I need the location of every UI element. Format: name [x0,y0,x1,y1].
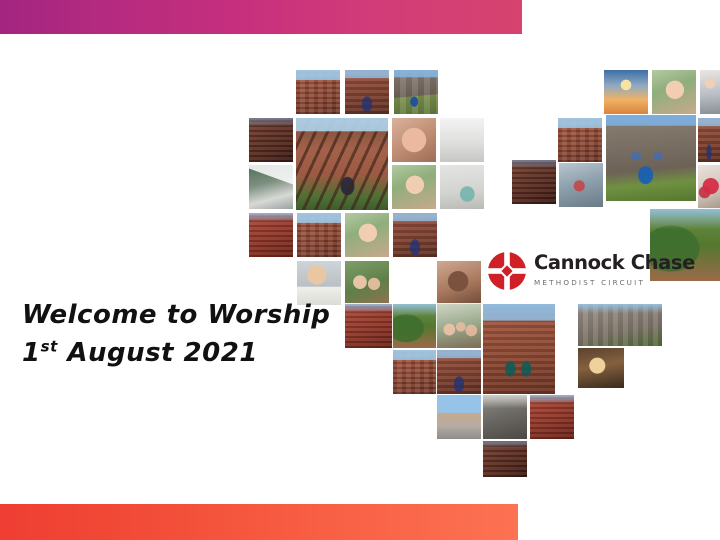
tile-hands-clasped [392,118,436,162]
tile-child-playing [345,213,389,257]
tile-twin-churches [578,304,662,346]
top-accent-bar [0,0,522,34]
tile-sunset-walker [604,70,648,114]
tile-woman-with-bike [700,70,720,114]
title-line-welcome: Welcome to Worship [22,296,352,334]
tile-mono-chapel [483,395,527,439]
tile-chapel-in-trees [393,304,437,348]
tile-church-interior [578,348,624,388]
methodist-cross-icon [487,251,527,291]
tile-red-chapel [530,395,574,439]
tile-gabled-chapel [558,118,602,162]
date-day-number: 1 [22,338,41,368]
tile-father-and-son [652,70,696,114]
tile-street-scene [437,395,481,439]
tile-chapel-entrance [345,70,389,114]
tile-shoes-on-floor [440,165,484,209]
tile-car-bonnet [249,165,293,209]
slide-root: Cannock Chase METHODIST CIRCUIT Welcome … [0,0,720,540]
tile-long-brick-church [345,304,395,348]
tile-modern-hall [440,118,484,162]
tile-chapel-doorway [393,213,437,257]
tile-grand-chapel [698,118,720,162]
tile-chapel-shadow [512,160,556,204]
tile-blue-door-church [606,115,696,201]
tile-small-chapel-left [393,350,437,394]
tile-brick-church-last [483,441,527,477]
title-line-date: 1st August 2021 [22,334,352,372]
tile-town-hall-church [483,304,555,394]
tile-noticeboard [297,213,341,257]
bottom-accent-bar [0,504,518,540]
logo-subtitle: METHODIST CIRCUIT [534,278,645,287]
logo-name: Cannock Chase [534,251,695,274]
date-ordinal-suffix: st [41,337,58,355]
tile-red-flowers [698,165,720,209]
tile-congregation [437,304,481,348]
cannock-chase-logo: Cannock Chase METHODIST CIRCUIT [487,251,720,291]
logo-wordmark: Cannock Chase METHODIST CIRCUIT [534,253,720,289]
tile-cyclist [559,163,603,207]
tile-old-chapel-ruin [249,118,293,162]
tile-brick-hall [249,213,293,257]
date-month-year: August 2021 [58,338,258,368]
tile-small-chapel-right [437,350,481,394]
tile-church-spire [394,70,438,114]
slide-title-block: Welcome to Worship 1st August 2021 [22,296,352,372]
tile-chapel-side [296,70,340,114]
tile-child-eating [437,261,481,305]
tile-mother-and-child [392,165,436,209]
tile-tudor-church [296,118,388,210]
